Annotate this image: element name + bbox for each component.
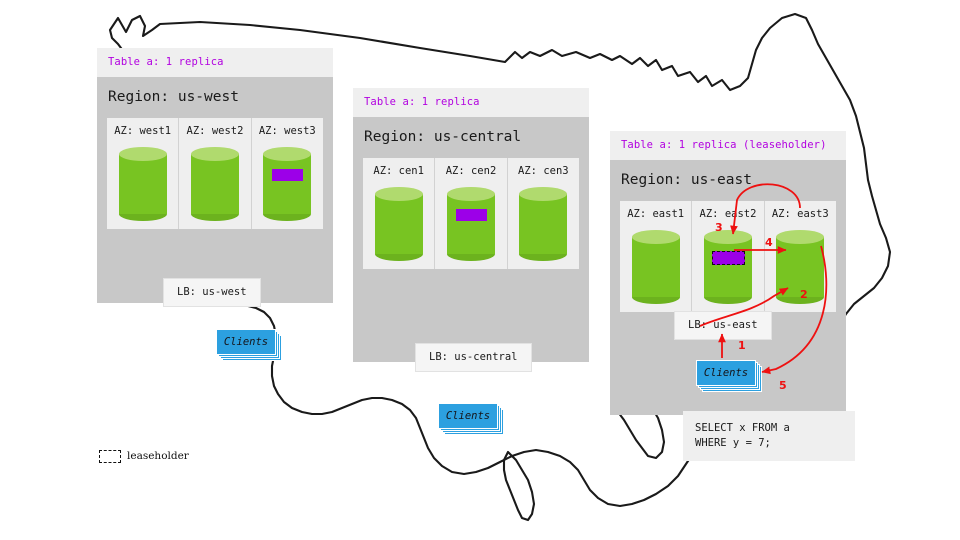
node-cylinder-cen3 [519, 187, 567, 259]
az-label-west1: AZ: west1 [114, 126, 171, 137]
cylinder-top [447, 187, 495, 201]
az-label-cen2: AZ: cen2 [446, 166, 497, 177]
az-east2[interactable]: AZ: east2 [691, 201, 763, 312]
clients-front: Clients [216, 329, 276, 355]
region-body-us-central: Region: us-central AZ: cen1 AZ: cen2 [353, 117, 589, 362]
node-cylinder-west3 [263, 147, 311, 219]
cylinder-top [632, 230, 680, 244]
az-cen1[interactable]: AZ: cen1 [363, 158, 434, 269]
replica-marker-west3 [272, 169, 303, 181]
cylinder-top [119, 147, 167, 161]
az-label-east2: AZ: east2 [700, 209, 757, 220]
legend: leaseholder [99, 450, 189, 463]
cylinder-top [704, 230, 752, 244]
clients-label-us-east: Clients [704, 368, 748, 379]
cylinder-body [119, 154, 167, 214]
sql-query-box: SELECT x FROM a WHERE y = 7; [683, 411, 855, 461]
cylinder-body [447, 194, 495, 254]
region-panel-us-central: Table a: 1 replica Region: us-central AZ… [353, 88, 589, 362]
cylinder-top [776, 230, 824, 244]
az-west1[interactable]: AZ: west1 [107, 118, 178, 229]
node-cylinder-west1 [119, 147, 167, 219]
replica-banner-us-central: Table a: 1 replica [353, 88, 589, 117]
node-cylinder-cen1 [375, 187, 423, 259]
node-cylinder-east1 [632, 230, 680, 302]
clients-stack-us-east[interactable]: Clients [696, 360, 754, 384]
az-label-west3: AZ: west3 [259, 126, 316, 137]
replica-banner-us-east: Table a: 1 replica (leaseholder) [610, 131, 846, 160]
cylinder-top [375, 187, 423, 201]
region-title-us-east: Region: us-east [610, 160, 846, 202]
cylinder-body [263, 154, 311, 214]
arrow-step-number-1: 1 [738, 340, 746, 351]
region-title-us-west: Region: us-west [97, 77, 333, 119]
az-cen3[interactable]: AZ: cen3 [507, 158, 579, 269]
cylinder-body [704, 237, 752, 297]
clients-label-us-west: Clients [224, 337, 268, 348]
load-balancer-us-east[interactable]: LB: us-east [674, 311, 772, 340]
clients-front: Clients [438, 403, 498, 429]
cylinder-body [375, 194, 423, 254]
az-label-cen3: AZ: cen3 [518, 166, 569, 177]
region-body-us-west: Region: us-west AZ: west1 AZ: west2 [97, 77, 333, 303]
clients-label-us-central: Clients [446, 411, 490, 422]
dashed-rect-swatch-icon [99, 450, 121, 463]
clients-front: Clients [696, 360, 756, 386]
region-title-us-central: Region: us-central [353, 117, 589, 159]
region-panel-us-west: Table a: 1 replica Region: us-west AZ: w… [97, 48, 333, 303]
diagram-canvas: Table a: 1 replica Region: us-west AZ: w… [0, 0, 960, 540]
replica-banner-us-west: Table a: 1 replica [97, 48, 333, 77]
az-label-cen1: AZ: cen1 [373, 166, 424, 177]
arrow-step-number-4: 4 [765, 237, 773, 248]
cylinder-top [519, 187, 567, 201]
az-row-us-west: AZ: west1 AZ: west2 AZ [107, 118, 323, 229]
az-row-us-central: AZ: cen1 AZ: cen2 [363, 158, 579, 269]
az-east1[interactable]: AZ: east1 [620, 201, 691, 312]
az-label-east3: AZ: east3 [772, 209, 829, 220]
az-label-west2: AZ: west2 [187, 126, 244, 137]
arrow-step-number-2: 2 [800, 289, 808, 300]
az-west2[interactable]: AZ: west2 [178, 118, 250, 229]
clients-stack-us-central[interactable]: Clients [438, 403, 496, 427]
az-cen2[interactable]: AZ: cen2 [434, 158, 506, 269]
replica-marker-cen2 [456, 209, 487, 221]
load-balancer-us-west[interactable]: LB: us-west [163, 278, 261, 307]
clients-stack-us-west[interactable]: Clients [216, 329, 274, 353]
node-cylinder-east2 [704, 230, 752, 302]
replica-marker-leaseholder-east2 [712, 251, 745, 265]
region-panel-us-east: Table a: 1 replica (leaseholder) Region:… [610, 131, 846, 415]
node-cylinder-west2 [191, 147, 239, 219]
az-west3[interactable]: AZ: west3 [251, 118, 323, 229]
cylinder-top [263, 147, 311, 161]
arrow-step-number-5: 5 [779, 380, 787, 391]
az-label-east1: AZ: east1 [627, 209, 684, 220]
node-cylinder-cen2 [447, 187, 495, 259]
legend-label: leaseholder [127, 451, 189, 462]
arrow-step-number-3: 3 [715, 222, 723, 233]
cylinder-body [191, 154, 239, 214]
cylinder-body [632, 237, 680, 297]
cylinder-top [191, 147, 239, 161]
load-balancer-us-central[interactable]: LB: us-central [415, 343, 532, 372]
cylinder-body [519, 194, 567, 254]
